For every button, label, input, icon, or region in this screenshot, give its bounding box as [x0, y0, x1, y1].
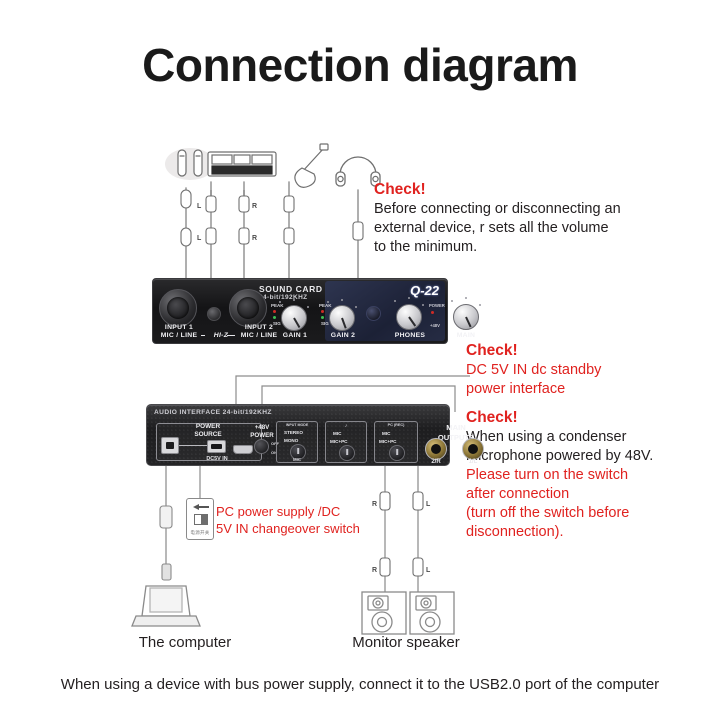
power-led [431, 311, 434, 314]
main-label: MAIN [443, 332, 489, 339]
speaker-caption: Monitor speaker [336, 634, 476, 651]
headphone-monitor-switch[interactable] [339, 445, 355, 461]
check-line: external device, r sets all the volume [374, 219, 664, 238]
check-callout-dc5v: Check! DC 5V IN dc standby power interfa… [466, 341, 696, 399]
pc-rec-group: PC (REC) MIC MIC+PC [374, 421, 418, 463]
input2-line1: INPUT 2 [245, 324, 273, 331]
input-mode-caption: MIC [277, 457, 317, 462]
switch-caption-cn: 电源开关 [187, 530, 213, 536]
check-callout-phantom-power: Check! When using a condenser microphone… [466, 408, 716, 542]
peak-led-1 [273, 310, 276, 313]
sound-card-brand-label: SOUND CARD [259, 284, 323, 294]
micro-usb-port[interactable] [233, 445, 253, 454]
check-line: disconnection). [466, 523, 716, 542]
svg-text:R: R [252, 235, 257, 242]
scale-dot [465, 297, 467, 299]
usb-type-b-port[interactable] [161, 437, 179, 454]
phones-label: PHONES [385, 332, 435, 339]
power-source-label: POWER SOURCE [177, 423, 239, 438]
gain1-label: GAIN 1 [275, 332, 315, 339]
headphone-monitor-group: ♪ MIC MIC+PC [325, 421, 367, 463]
check-line: Please turn on the switch [466, 466, 716, 485]
headphone-jack[interactable] [366, 306, 381, 321]
hp-mic-option-label: MIC [333, 431, 341, 436]
sig-led-1 [273, 316, 276, 319]
check-line: Before connecting or disconnecting an [374, 200, 664, 219]
hi-z-jack[interactable] [207, 307, 221, 321]
pc-switch-line1: PC power supply /DC [216, 503, 376, 520]
pc-switch-line2: 5V IN changeover switch [216, 520, 376, 537]
mono-option-label: MONO [284, 438, 298, 443]
input2-line2: MIC / LINE [241, 332, 278, 339]
phantom-line1: +48V [255, 424, 270, 431]
check-line: When using a condenser [466, 428, 716, 447]
left-arrow-icon [192, 503, 210, 511]
dc5v-in-label: DC5V IN [191, 456, 243, 462]
check-line: DC 5V IN dc standby [466, 361, 696, 380]
scale-dot [479, 304, 481, 306]
sound-card-device: SOUND CARD 24-bit/192KHZ Q-22 PEAK SIG P… [152, 278, 448, 344]
hp-micpc-option-label: MIC+PC [330, 439, 348, 444]
check-line: power interface [466, 380, 696, 399]
power-source-connector-line [179, 445, 207, 446]
power-source-line2: SOURCE [194, 431, 221, 438]
page-title: Connection diagram [0, 38, 720, 92]
svg-text:L: L [426, 501, 431, 508]
stereo-option-label: STEREO [284, 430, 303, 435]
scale-dot [451, 300, 453, 302]
main-outputs-line1: MAIN [446, 423, 465, 432]
power-led-label: POWER [429, 303, 445, 308]
check-heading: Check! [466, 341, 696, 361]
check-line: microphone powered by 48V. [466, 447, 716, 466]
headphone-icon: ♪ [326, 423, 366, 429]
check-line: to the minimum. [374, 238, 664, 257]
input-mode-group: INPUT MODE STEREO MONO MIC [276, 421, 318, 463]
phantom-led-label: +48V [430, 323, 440, 328]
input1-label: INPUT 1 MIC / LINE [155, 324, 203, 340]
phantom-line2: POWER [250, 432, 273, 439]
pc-power-switch-icon: 电源开关 [186, 498, 214, 540]
sound-card-spec-label: 24-bit/192KHZ [259, 294, 308, 301]
input-mode-title: INPUT MODE [277, 423, 317, 427]
main-knob[interactable] [453, 304, 479, 330]
peak-label-1: PEAK [271, 303, 284, 308]
phantom-power-switch[interactable] [254, 439, 269, 454]
computer-caption: The computer [120, 634, 250, 651]
svg-text:L: L [426, 567, 431, 574]
phones-knob[interactable] [396, 304, 422, 330]
power-source-line1: POWER [196, 423, 220, 430]
gain2-label: GAIN 2 [323, 332, 363, 339]
sound-card-logo: Q-22 [410, 283, 439, 298]
input1-line2: MIC / LINE [161, 332, 198, 339]
xlr-combo-jack-input1[interactable] [159, 289, 197, 327]
svg-text:L: L [197, 235, 202, 242]
scale-dot [307, 306, 309, 308]
main-output-jack-2r[interactable] [425, 438, 447, 460]
xlr-combo-jack-input2[interactable] [229, 289, 267, 327]
pc-power-switch-note: PC power supply /DC 5V IN changeover swi… [216, 503, 376, 537]
check-callout-volume: Check! Before connecting or disconnectin… [374, 180, 664, 257]
gain2-knob[interactable] [329, 305, 355, 331]
svg-text:R: R [252, 203, 257, 210]
sig-label-2: SIG [321, 321, 329, 326]
footer-note: When using a device with bus power suppl… [0, 676, 720, 693]
sig-led-2 [321, 316, 324, 319]
check-line: after connection [466, 485, 716, 504]
pc-micpc-option-label: MIC+PC [379, 439, 397, 444]
pc-mic-option-label: MIC [382, 431, 390, 436]
svg-text:L: L [197, 203, 202, 210]
pc-rec-switch[interactable] [389, 445, 405, 461]
gain1-knob[interactable] [281, 305, 307, 331]
check-heading: Check! [466, 408, 716, 428]
hiz-dash-right [227, 335, 235, 336]
switch-glyph [194, 514, 208, 525]
peak-led-2 [321, 310, 324, 313]
check-line: (turn off the switch before [466, 504, 716, 523]
jack-2r-label: 2/R [419, 459, 453, 465]
peak-label-2: PEAK [319, 303, 332, 308]
audio-interface-title: AUDIO INTERFACE 24-bit/192KHZ [154, 409, 272, 416]
dc5v-in-port[interactable] [207, 440, 226, 453]
main-output-jack-1l[interactable] [462, 438, 484, 460]
audio-interface-device: AUDIO INTERFACE 24-bit/192KHZ POWER SOUR… [146, 404, 450, 466]
svg-text:R: R [372, 567, 377, 574]
check-heading: Check! [374, 180, 664, 200]
pc-rec-title: PC (REC) [375, 423, 417, 427]
jack-1l-label: 1/L [456, 459, 490, 465]
input1-line1: INPUT 1 [165, 324, 193, 331]
